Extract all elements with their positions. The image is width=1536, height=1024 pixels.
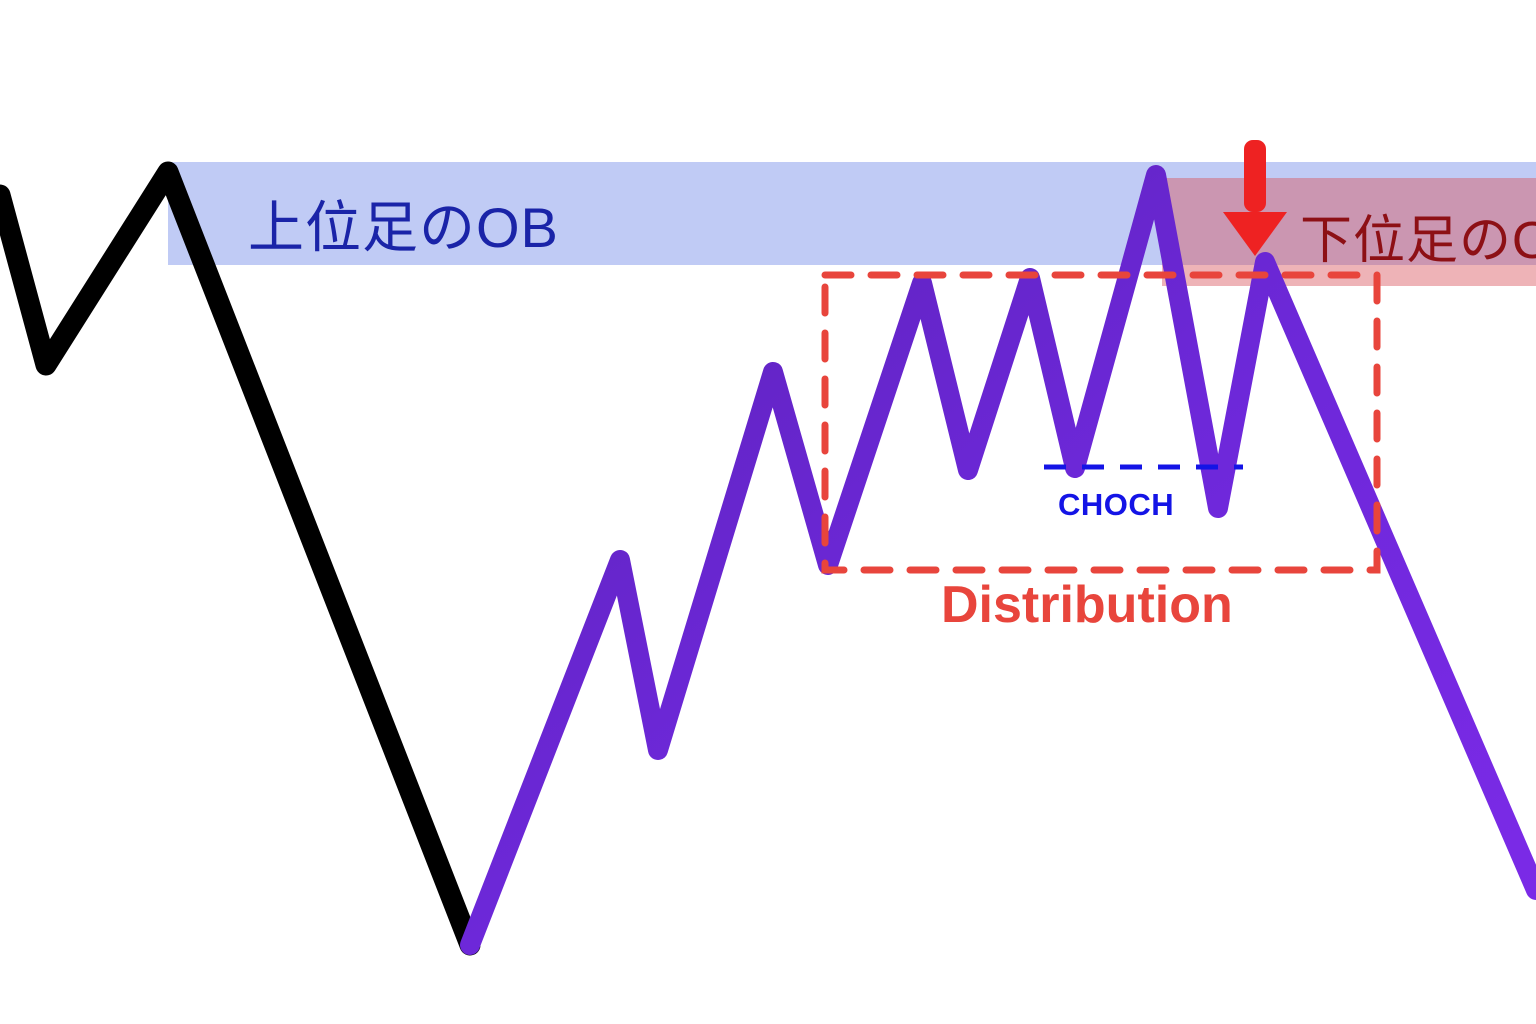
choch-label: CHOCH (1058, 487, 1174, 523)
price-line-past (0, 172, 470, 945)
distribution-label: Distribution (941, 575, 1233, 635)
diagram-canvas: 上位足のOB 下位足のO CHOCH Distribution (0, 0, 1536, 1024)
price-action-chart (0, 0, 1536, 1024)
ob-lower-timeframe-label: 下位足のO (1300, 198, 1536, 273)
ob-higher-timeframe-label: 上位足のOB (248, 183, 559, 264)
